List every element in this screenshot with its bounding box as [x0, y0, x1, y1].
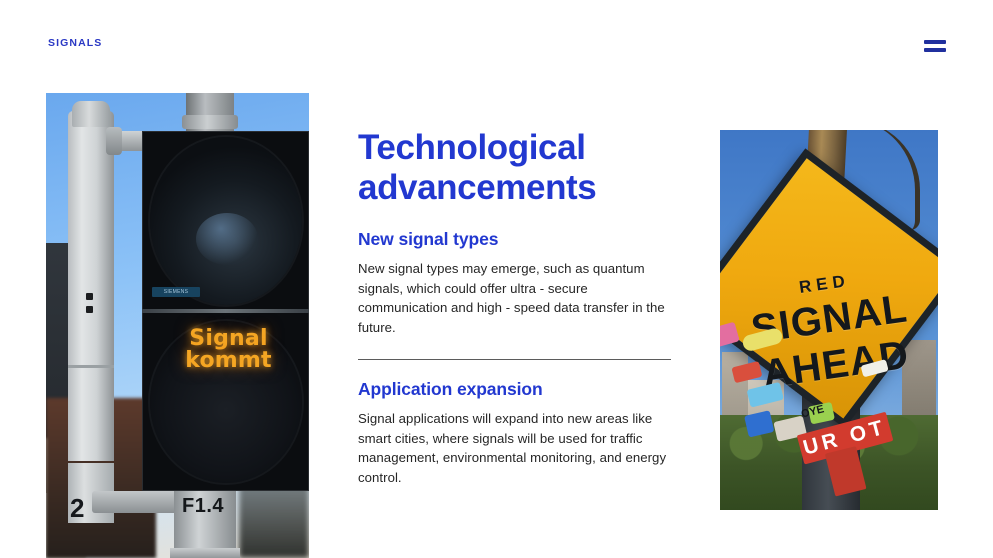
- signal-pole-cap: [72, 101, 110, 127]
- slide: SIGNALS SIEMENS Signal kommt 2: [0, 0, 993, 558]
- sticker-red: [731, 361, 762, 383]
- signal-head-divider: [142, 309, 309, 313]
- signal-mount-collar: [106, 127, 122, 155]
- brand-logo[interactable]: SIGNALS: [48, 38, 102, 49]
- mast-code-label: F1.4: [182, 495, 224, 518]
- overhead-post-cap: [182, 115, 238, 129]
- hamburger-bar-1: [924, 40, 946, 44]
- pole-sensor-2: [86, 306, 93, 313]
- led-line-2: kommt: [185, 350, 272, 372]
- sticker-white-strip: [861, 359, 889, 377]
- section-body-2: Signal applications will expand into new…: [358, 409, 674, 487]
- section-application-expansion: Application expansion Signal application…: [358, 379, 674, 487]
- hamburger-bar-2: [924, 48, 946, 52]
- section-body-1: New signal types may emerge, such as qua…: [358, 259, 674, 337]
- section-title-2: Application expansion: [358, 379, 674, 400]
- content-column: Technological advancements New signal ty…: [358, 128, 674, 487]
- warning-sign: RED SIGNAL AHEAD OYE UR OT: [720, 190, 938, 472]
- sticker-cyan: [747, 382, 784, 408]
- signal-brand-plate: SIEMENS: [152, 287, 200, 297]
- led-display: Signal kommt: [161, 315, 296, 385]
- hamburger-menu-icon[interactable]: [924, 36, 948, 56]
- sticker-yellow-oval: [741, 327, 784, 353]
- section-divider: [358, 359, 671, 360]
- mast-collar-ring: [170, 548, 240, 558]
- led-line-1: Signal: [189, 328, 267, 350]
- section-title-1: New signal types: [358, 229, 674, 250]
- sticker-group: OYE UR OT: [720, 190, 938, 472]
- page-title: Technological advancements: [358, 128, 674, 207]
- sticker-pink: [720, 322, 740, 348]
- pole-number-label: 2: [70, 493, 84, 524]
- red-signal-ahead-image: RED SIGNAL AHEAD OYE UR OT: [720, 130, 938, 510]
- signal-lamp-reflection: [196, 213, 258, 265]
- signal-pole: [68, 111, 114, 461]
- pole-seam: [68, 365, 114, 368]
- traffic-signal-image: SIEMENS Signal kommt 2 F1.4: [46, 93, 309, 558]
- section-new-signal-types: New signal types New signal types may em…: [358, 229, 674, 337]
- sticker-blue: [744, 410, 774, 437]
- pole-sensor-1: [86, 293, 93, 300]
